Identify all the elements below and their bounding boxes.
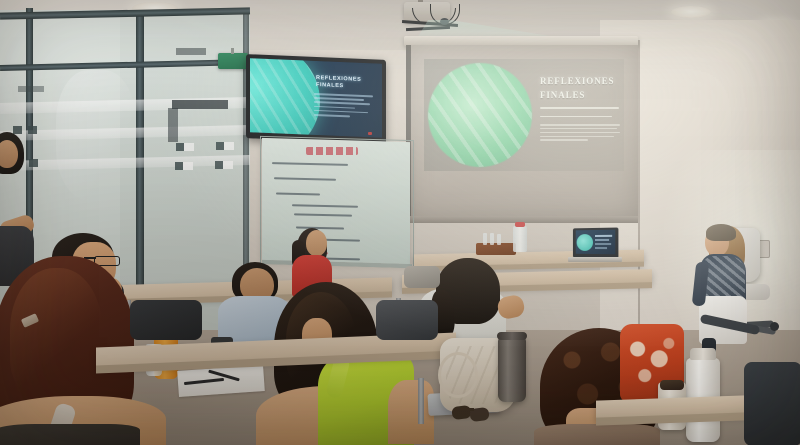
monitor-body-line [314,105,355,108]
screen-sheen [406,45,638,220]
laptop-slide-text [595,243,611,245]
laptop-base [568,257,622,262]
downlight-icon [671,6,711,18]
water-pitcher [513,226,527,252]
whiteboard-frame [260,136,414,268]
wall-corner-line [638,40,640,340]
glass-reflected-beam [176,48,206,55]
monitor-power-led-icon [368,132,372,135]
laptop-slide-text [595,239,609,241]
glass-marker-dash [216,142,224,150]
table-leg [418,378,424,424]
glass-reflected-beam [18,86,44,92]
mullion-vertical [136,10,144,330]
laptop-screen [576,230,616,255]
classroom-photo: REFLEXIONES FINALES REFLEXIONES FINALES [0,0,800,445]
glassware [490,233,494,245]
glassware [483,233,487,245]
glass-marker-dash [29,159,38,167]
attendee-auburn-hair-sheen [10,268,102,398]
glass-reflected-beam [168,108,178,142]
glass-marker-cap [184,143,194,151]
wall-monitor[interactable]: REFLEXIONES FINALES [246,54,386,144]
exit-sign [218,53,248,69]
whiteboard-heading [306,147,358,155]
laptop-slide-text [595,235,612,237]
glass-marker-cap [183,162,193,170]
ceramic-cup-contents [660,380,684,390]
meeting-chair[interactable] [404,266,440,288]
glass-reflection [56,70,136,200]
meeting-chair[interactable] [130,300,202,340]
travel-mug-lid-icon [497,332,527,340]
attendee-curly-top [534,424,660,445]
laptop-slide-text [595,247,607,249]
monitor-screen: REFLEXIONES FINALES [250,58,382,138]
glass-marker-cap [223,161,233,169]
glass-marker-dash [13,126,22,134]
exit-sign-bracket [231,48,234,54]
monitor-body-line [314,114,350,117]
glassware [497,234,501,245]
handbag-strap [438,352,478,398]
monitor-body-line [314,110,368,114]
glass-reflected-beam [172,100,228,109]
monitor-slide-graphic-lines [250,58,320,138]
glass-marker-dash [176,143,184,151]
sunglasses-bridge-icon [468,408,474,411]
laptop-slide-graphic [577,234,593,251]
glass-marker-dash [28,126,37,134]
presenter-laptop[interactable] [573,228,618,259]
white-bottle-cap-icon [690,348,716,360]
projection-screen: REFLEXIONES FINALES [406,45,638,220]
attendee-auburn-top [0,424,140,445]
monitor-body-line [314,97,364,101]
wooden-tray [476,243,516,255]
travel-mug[interactable] [498,336,526,402]
pitcher-cap-icon [515,222,525,227]
presenter-hair-top [706,224,736,241]
glass-marker-dash [215,161,223,169]
attendee-lime-arm [388,380,434,444]
monitor-body-line [314,101,370,105]
monitor-slide-body [314,93,378,121]
attendee-edge-head [0,140,18,168]
glass-marker-dash [175,162,183,170]
glass-marker-cap [224,142,234,150]
office-chair-right[interactable] [744,362,800,445]
facilitator-head [306,230,327,256]
meeting-chair[interactable] [376,300,438,340]
office-chair-caster [770,322,779,331]
